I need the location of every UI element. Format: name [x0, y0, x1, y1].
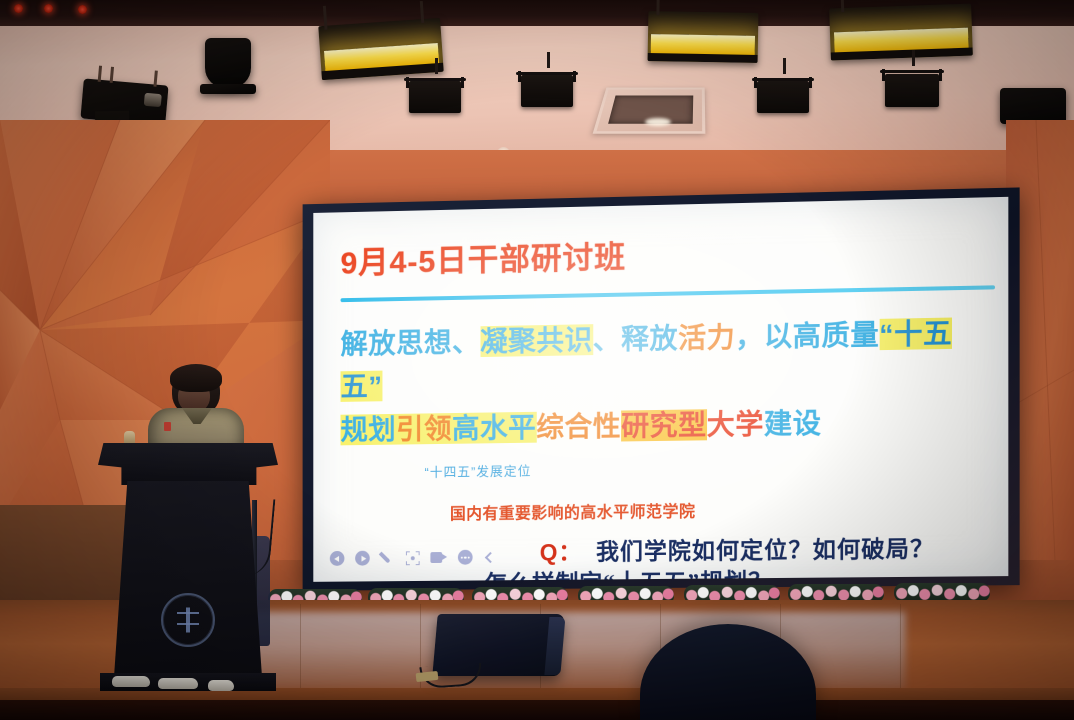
ceiling-speaker: [1000, 88, 1066, 124]
podium: [98, 443, 278, 695]
headline-seg: 、: [593, 324, 621, 355]
auditorium-scene: 9月4-5日干部研讨班 解放思想、凝聚共识、释放活力，以高质量“十五五” 规划引…: [0, 0, 1074, 720]
ceiling-speaker: [205, 38, 251, 88]
indicator-led: [78, 5, 87, 14]
headline-seg: 大学: [707, 408, 764, 440]
headline-seg-highlighted: 研究型: [621, 409, 706, 441]
headline-line-1: 解放思想、凝聚共识、释放活力，以高质量“十五五”: [341, 311, 980, 409]
headline-seg: 活力: [678, 322, 735, 354]
indicator-led: [44, 4, 53, 13]
ac-vent: [593, 87, 706, 133]
stage-light-unlit: [404, 68, 466, 118]
headline-line-2: 规划引领高水平综合性研究型大学建设: [341, 399, 980, 452]
podium-body: [114, 481, 262, 677]
projection-screen-bezel: 9月4-5日干部研讨班 解放思想、凝聚共识、释放活力，以高质量“十五五” 规划引…: [303, 187, 1020, 590]
presenter-badge: [164, 422, 171, 431]
presenter-shoes: [112, 676, 224, 690]
video-record-icon[interactable]: [430, 552, 447, 563]
podium-top: [98, 443, 278, 485]
presentation-toolbar[interactable]: [330, 550, 493, 566]
headline-seg: 建设: [764, 407, 822, 439]
indicator-led: [14, 4, 23, 13]
headline-seg: 综合性: [536, 410, 621, 442]
slide-title: 9月4-5日干部研讨班: [341, 224, 980, 283]
podium-emblem: [161, 593, 215, 647]
headline-seg-highlighted: 高水平: [452, 412, 536, 444]
question-line-1: Q：我们学院如何定位？如何破局？: [540, 533, 980, 569]
slide-divider: [341, 285, 995, 302]
previous-slide-icon[interactable]: [330, 551, 345, 566]
shoe: [158, 678, 198, 689]
slide-headline: 解放思想、凝聚共识、释放活力，以高质量“十五五” 规划引领高水平综合性研究型大学…: [341, 311, 980, 452]
slide-subtitle-red: 国内有重要影响的高水平师范学院: [450, 494, 980, 524]
projection-screen: 9月4-5日干部研讨班 解放思想、凝聚共识、释放活力，以高质量“十五五” 规划引…: [313, 197, 1008, 582]
presenter-hair: [170, 364, 222, 392]
headline-seg-highlighted: 引领: [396, 413, 452, 445]
ceiling-speaker: [200, 84, 256, 94]
question-text-1: 我们学院如何定位？如何破局？: [596, 536, 934, 564]
shoe: [208, 680, 234, 691]
question-marker: Q：: [540, 539, 582, 565]
orchestra-pit-shadow: [0, 700, 1074, 720]
headline-seg-highlighted: 规划: [341, 414, 397, 445]
shoe: [112, 676, 150, 687]
pen-icon[interactable]: [380, 550, 395, 565]
projector-icon: [80, 78, 168, 125]
stage-light-unlit: [516, 62, 578, 112]
headline-seg: ，以高质量: [735, 319, 879, 353]
stage-light-unlit: [752, 68, 814, 118]
slide-content: 9月4-5日干部研讨班 解放思想、凝聚共识、释放活力，以高质量“十五五” 规划引…: [313, 197, 1008, 582]
play-slide-icon[interactable]: [355, 551, 370, 566]
headline-seg: 解放思想、: [341, 326, 481, 359]
stage-light-lit: [648, 11, 759, 63]
more-options-icon[interactable]: [458, 550, 473, 565]
chevron-left-icon[interactable]: [483, 552, 493, 562]
headline-seg-highlighted: 凝聚共识: [480, 324, 593, 357]
slide-subtitle-blue: “十四五”发展定位: [425, 455, 980, 481]
focus-icon[interactable]: [406, 551, 420, 565]
slide-question-block: Q：我们学院如何定位？如何破局？ 怎么样制定“十五五”规划？: [540, 533, 980, 582]
vent-light: [645, 118, 671, 126]
stage-light-lit: [829, 4, 973, 61]
headline-seg: 释放: [621, 323, 678, 355]
stage-light-unlit: [880, 60, 944, 112]
